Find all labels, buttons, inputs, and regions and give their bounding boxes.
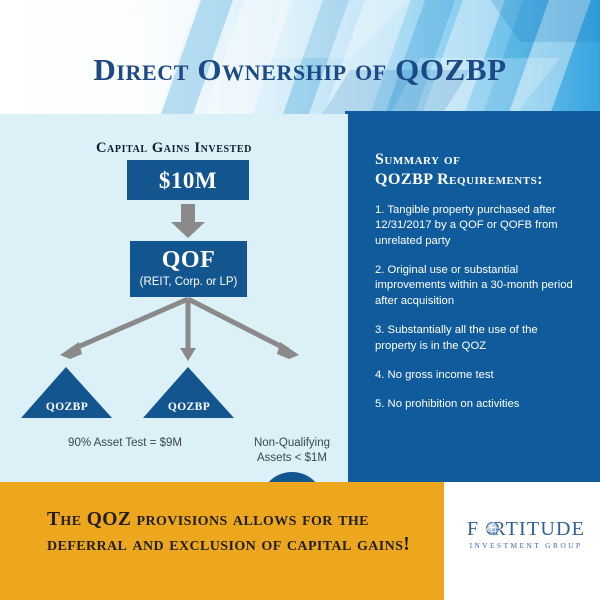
- footer-statement: The QOZ provisions allows for the deferr…: [47, 508, 427, 558]
- arrowhead-middle: [180, 348, 196, 361]
- requirement-item: 2. Original use or substantial improveme…: [375, 263, 580, 309]
- diagram-arrows: [0, 114, 348, 482]
- arrow-qof-to-circle: [188, 299, 288, 350]
- qozbp-triangle-2-label: QOZBP: [143, 401, 235, 413]
- header-accent-rule: [345, 111, 600, 114]
- infographic-root: Direct Ownership of QOZBP Capital Gains …: [0, 0, 600, 600]
- arrowhead-left: [60, 342, 82, 359]
- arrowhead-right: [277, 342, 299, 359]
- non-qualifying-caption: Non-Qualifying Assets < $1M: [236, 436, 348, 466]
- requirement-item: 3. Substantially all the use of the prop…: [375, 323, 580, 354]
- fortitude-logo: FRTITUDE INVESTMENT GROUP: [466, 519, 586, 550]
- arrow-qof-to-left-triangle: [71, 299, 188, 350]
- requirements-heading-line2: QOZBP Requirements:: [375, 170, 580, 190]
- requirements-heading-line1: Summary of: [375, 150, 580, 170]
- requirement-item: 5. No prohibition on activities: [375, 397, 580, 412]
- requirement-item: 1. Tangible property purchased after 12/…: [375, 203, 580, 249]
- logo-tagline: INVESTMENT GROUP: [466, 541, 586, 550]
- qozbp-triangle-1-label: QOZBP: [21, 401, 113, 413]
- page-title: Direct Ownership of QOZBP: [0, 0, 600, 114]
- globe-icon: [486, 522, 499, 535]
- ownership-flow-diagram: Capital Gains Invested $10M QOF (REIT, C…: [0, 114, 348, 482]
- requirement-item: 4. No gross income test: [375, 368, 580, 383]
- logo-wordmark: FRTITUDE: [466, 519, 586, 539]
- asset-test-caption: 90% Asset Test = $9M: [35, 436, 215, 451]
- logo-name-before-globe: F: [467, 518, 479, 540]
- header-banner: Direct Ownership of QOZBP: [0, 0, 600, 114]
- arrow-10m-to-qof: [171, 204, 205, 238]
- requirements-heading: Summary of QOZBP Requirements:: [375, 150, 580, 189]
- qozbp-requirements-panel: Summary of QOZBP Requirements: 1. Tangib…: [375, 150, 580, 413]
